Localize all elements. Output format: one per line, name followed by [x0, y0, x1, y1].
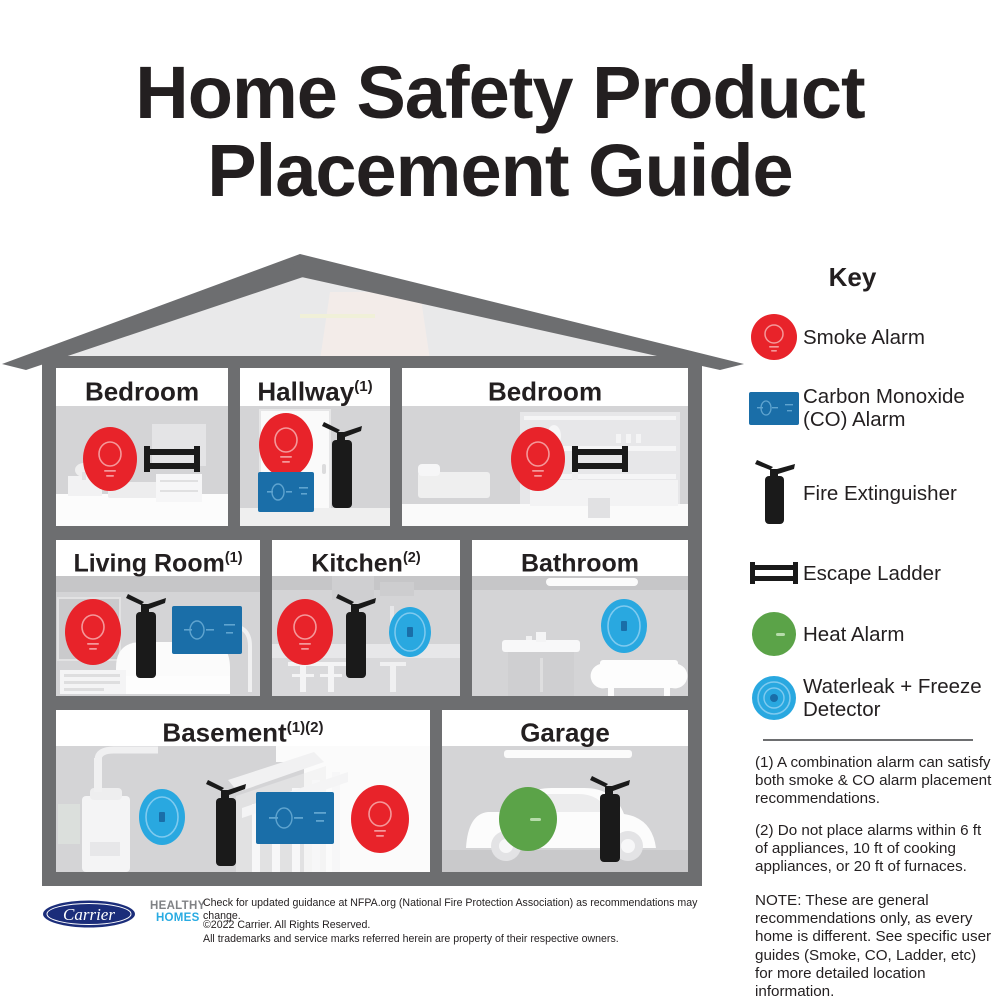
key-note-2: (2) Do not place alarms within 6 ft of a…: [755, 822, 993, 877]
room-label-basement: Basement(1)(2): [56, 710, 430, 746]
room-hallway: Hallway(1): [240, 368, 390, 526]
key-label-waterleak: Waterleak + Freeze Detector: [803, 675, 983, 721]
house-diagram: Bedroom: [0, 252, 745, 892]
svg-text:Carrier: Carrier: [63, 905, 115, 924]
carrier-logo: Carrier: [42, 899, 137, 929]
key-item-escape-ladder: Escape Ladder: [745, 552, 1000, 594]
key-heading: Key: [745, 262, 960, 293]
healthy-homes-line-1: HEALTHY: [150, 900, 206, 912]
fire-extinguisher-icon: [745, 460, 803, 526]
waterleak-icon: [745, 675, 803, 721]
key-note-1: (1) A combination alarm can satisfy both…: [755, 754, 993, 809]
room-label-living-room: Living Room(1): [56, 540, 260, 576]
footer-trademark-text: All trademarks and service marks referre…: [203, 933, 723, 946]
key-panel: Key Smoke Alarm: [745, 252, 1000, 952]
key-label-co-alarm: Carbon Monoxide (CO) Alarm: [803, 385, 978, 431]
key-item-co-alarm: Carbon Monoxide (CO) Alarm: [745, 369, 1000, 447]
page-title-line-2: Placement Guide: [0, 132, 1000, 210]
room-living-room: Living Room(1): [56, 540, 260, 696]
room-bedroom-left: Bedroom: [56, 368, 228, 526]
key-divider: [763, 739, 973, 741]
room-label-bathroom: Bathroom: [472, 540, 688, 576]
infographic-page: Home Safety Product Placement Guide: [0, 0, 1000, 1000]
key-label-heat-alarm: Heat Alarm: [803, 623, 904, 646]
room-bedroom-right: Bedroom: [402, 368, 688, 526]
healthy-homes-logo: HEALTHY HOMES: [150, 900, 206, 924]
room-basement: Basement(1)(2): [56, 710, 430, 872]
key-label-smoke-alarm: Smoke Alarm: [803, 326, 925, 349]
key-label-fire-extinguisher: Fire Extinguisher: [803, 482, 957, 505]
key-item-heat-alarm: Heat Alarm: [745, 608, 1000, 660]
room-label-garage: Garage: [442, 710, 688, 746]
key-item-waterleak: Waterleak + Freeze Detector: [745, 667, 1000, 729]
room-bathroom: Bathroom: [472, 540, 688, 696]
page-title-line-1: Home Safety Product: [135, 51, 864, 134]
escape-ladder-icon: [745, 561, 803, 585]
key-label-escape-ladder: Escape Ladder: [803, 562, 941, 585]
footer-copyright-text: ©2022 Carrier. All Rights Reserved.: [203, 919, 723, 932]
room-label-bedroom-left: Bedroom: [56, 368, 228, 406]
room-kitchen: Kitchen(2): [272, 540, 460, 696]
room-label-kitchen: Kitchen(2): [272, 540, 460, 576]
key-item-smoke-alarm: Smoke Alarm: [745, 307, 1000, 367]
smoke-alarm-icon: [745, 313, 803, 361]
heat-alarm-icon: [745, 611, 803, 657]
key-note-3: NOTE: These are general recommendations …: [755, 892, 993, 1001]
page-title: Home Safety Product Placement Guide: [0, 54, 1000, 210]
healthy-homes-line-2: HOMES: [150, 912, 206, 924]
room-label-bedroom-right: Bedroom: [402, 368, 688, 406]
footer: Carrier HEALTHY HOMES Check for updated …: [0, 893, 745, 963]
room-label-hallway: Hallway(1): [240, 368, 390, 406]
co-alarm-icon: [745, 392, 803, 425]
room-garage: Garage: [442, 710, 688, 872]
key-item-fire-extinguisher: Fire Extinguisher: [745, 457, 1000, 529]
